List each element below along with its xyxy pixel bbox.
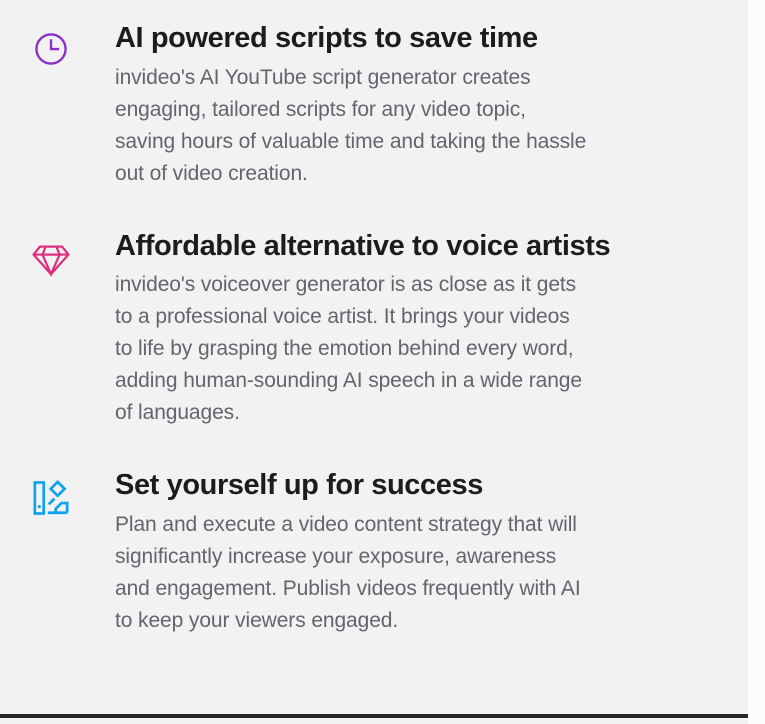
feature-description-line: adding human-sounding AI speech in a wid… [115, 365, 715, 397]
feature-description-line: engaging, tailored scripts for any video… [115, 94, 715, 126]
feature-body: AI powered scripts to save time invideo'… [115, 22, 715, 190]
feature-description: invideo's voiceover generator is as clos… [115, 269, 715, 429]
feature-description-line: invideo's voiceover generator is as clos… [115, 269, 715, 301]
feature-item-voice-artists: Affordable alternative to voice artists … [0, 230, 748, 429]
feature-description-line: out of video creation. [115, 158, 715, 190]
feature-description-line: significantly increase your exposure, aw… [115, 541, 715, 573]
feature-list: AI powered scripts to save time invideo'… [0, 0, 748, 637]
diamond-icon [32, 240, 70, 278]
feature-title: Set yourself up for success [115, 469, 715, 503]
feature-title: AI powered scripts to save time [115, 22, 715, 56]
feature-list-page: AI powered scripts to save time invideo'… [0, 0, 765, 724]
feature-description-line: saving hours of valuable time and taking… [115, 126, 715, 158]
feature-description-line: to a professional voice artist. It bring… [115, 301, 715, 333]
feature-body: Affordable alternative to voice artists … [115, 230, 715, 429]
page-bottom-divider [0, 714, 748, 718]
feature-description-line: and engagement. Publish videos frequentl… [115, 573, 715, 605]
feature-description-line: to keep your viewers engaged. [115, 605, 715, 637]
feature-description: invideo's AI YouTube script generator cr… [115, 62, 715, 190]
feature-item-ai-scripts: AI powered scripts to save time invideo'… [0, 22, 748, 190]
feature-description: Plan and execute a video content strateg… [115, 509, 715, 637]
feature-description-line: Plan and execute a video content strateg… [115, 509, 715, 541]
content-plan-icon [32, 479, 70, 517]
feature-item-content-strategy: Set yourself up for success Plan and exe… [0, 469, 748, 637]
feature-body: Set yourself up for success Plan and exe… [115, 469, 715, 637]
feature-title: Affordable alternative to voice artists [115, 230, 715, 264]
vertical-scrollbar[interactable] [748, 0, 765, 724]
clock-icon [32, 30, 70, 68]
feature-description-line: invideo's AI YouTube script generator cr… [115, 62, 715, 94]
feature-description-line: to life by grasping the emotion behind e… [115, 333, 715, 365]
feature-description-line: of languages. [115, 397, 715, 429]
